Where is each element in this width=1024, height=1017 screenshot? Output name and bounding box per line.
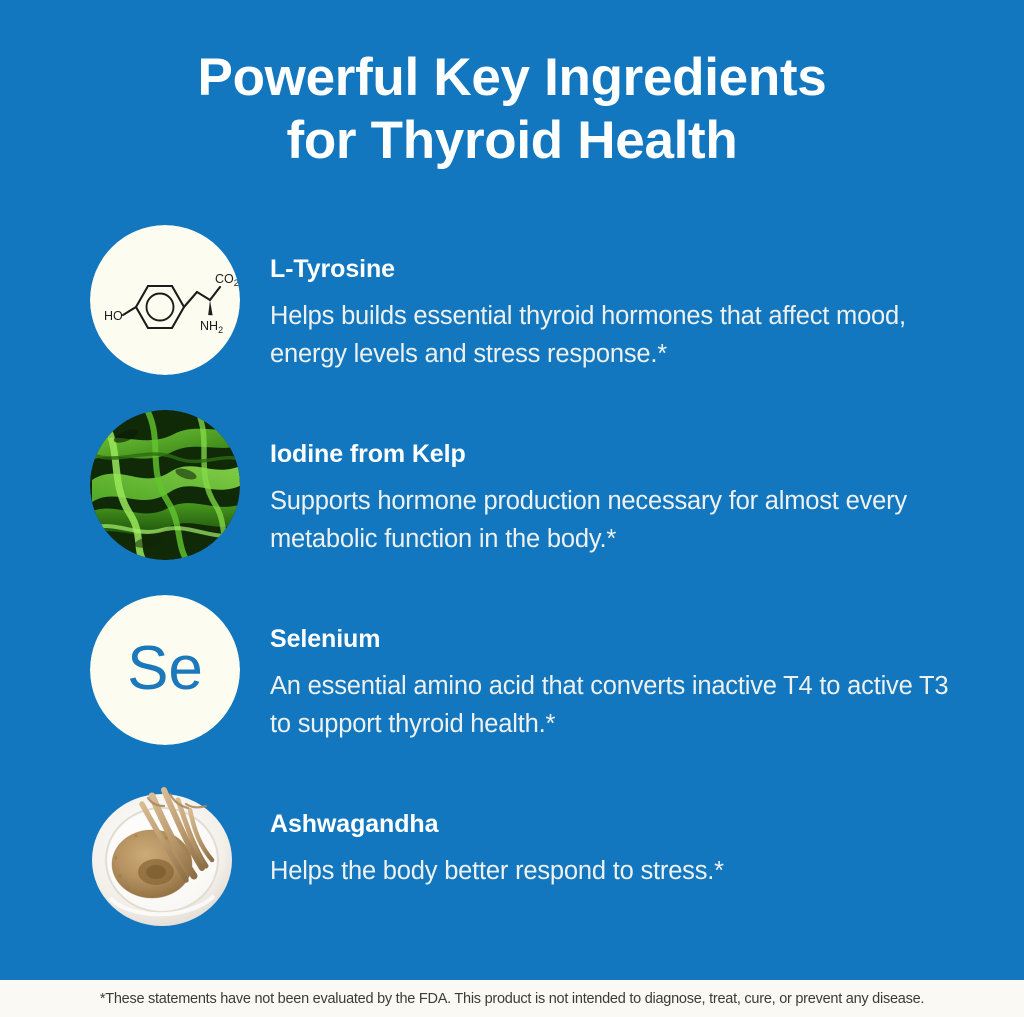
molecule-label-ho: HO <box>104 309 123 323</box>
ingredient-list: HO CO2H NH2 L-Tyrosine Helps builds esse… <box>0 222 1024 962</box>
ingredient-description: Supports hormone production necessary fo… <box>270 482 970 558</box>
thyroid-ingredients-infographic: Powerful Key Ingredients for Thyroid Hea… <box>0 0 1024 1017</box>
title-line-2: for Thyroid Health <box>0 109 1024 172</box>
ingredient-text-block: Ashwagandha Helps the body better respon… <box>270 777 970 890</box>
fda-disclaimer-text: *These statements have not been evaluate… <box>100 990 924 1008</box>
cream-disc: HO CO2H NH2 <box>90 225 240 375</box>
ingredient-name: Selenium <box>270 624 970 654</box>
ingredient-row-selenium: Se Selenium An essential amino acid that… <box>0 592 1024 777</box>
ingredient-text-block: L-Tyrosine Helps builds essential thyroi… <box>270 222 970 373</box>
tyrosine-molecule-icon: HO CO2H NH2 <box>90 225 240 375</box>
ingredient-row-iodine-from-kelp: Iodine from Kelp Supports hormone produc… <box>0 407 1024 592</box>
footer-disclaimer-bar: *These statements have not been evaluate… <box>0 980 1024 1017</box>
selenium-symbol-icon: Se <box>90 595 240 745</box>
ingredient-description: An essential amino acid that converts in… <box>270 667 970 743</box>
ingredient-text-block: Selenium An essential amino acid that co… <box>270 592 970 743</box>
kelp-photo-icon <box>90 410 240 560</box>
ashwagandha-image <box>90 780 240 930</box>
ingredient-description: Helps the body better respond to stress.… <box>270 852 970 890</box>
ingredient-name: Ashwagandha <box>270 809 970 839</box>
ingredient-name: L-Tyrosine <box>270 254 970 284</box>
molecule-label-nh2: NH2 <box>200 319 223 335</box>
molecule-label-co2h: CO2H <box>215 272 240 288</box>
ingredient-row-l-tyrosine: HO CO2H NH2 L-Tyrosine Helps builds esse… <box>0 222 1024 407</box>
ingredient-row-ashwagandha: Ashwagandha Helps the body better respon… <box>0 777 1024 962</box>
cream-disc: Se <box>90 595 240 745</box>
element-symbol-se: Se <box>127 638 203 700</box>
ingredient-description: Helps builds essential thyroid hormones … <box>270 297 970 373</box>
page-title: Powerful Key Ingredients for Thyroid Hea… <box>0 46 1024 172</box>
ingredient-name: Iodine from Kelp <box>270 439 970 469</box>
kelp-image <box>90 410 240 560</box>
title-line-1: Powerful Key Ingredients <box>0 46 1024 109</box>
ingredient-text-block: Iodine from Kelp Supports hormone produc… <box>270 407 970 558</box>
ashwagandha-photo-icon <box>90 780 240 930</box>
